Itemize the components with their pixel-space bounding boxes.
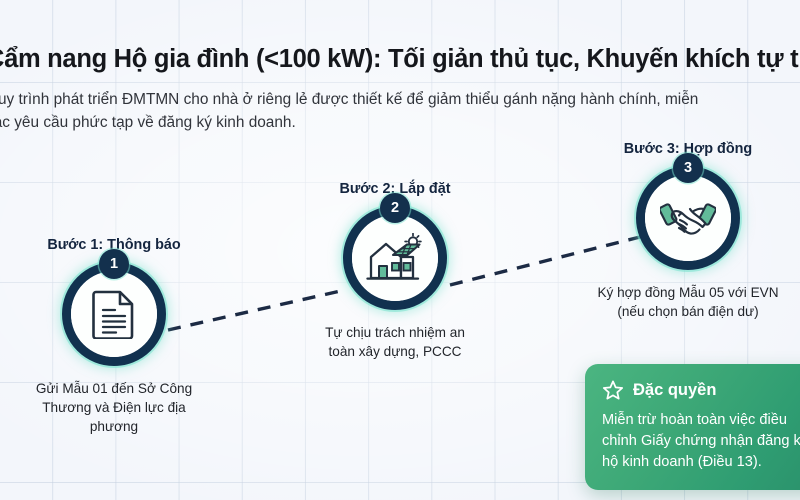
privilege-header: Đặc quyền	[602, 379, 800, 401]
step-3-caption-line-1: Ký hợp đồng Mẫu 05 với EVN	[583, 284, 793, 303]
star-icon	[602, 379, 624, 401]
privilege-title: Đặc quyền	[633, 381, 716, 400]
step-2-caption-line-2: toàn xây dựng, PCCC	[290, 343, 500, 362]
privilege-body-line-1: Miễn trừ hoàn toàn việc điều	[602, 410, 800, 431]
infographic-canvas: Cẩm nang Hộ gia đình (<100 kW): Tối giản…	[0, 0, 800, 500]
step-3[interactable]: Bước 3: Hợp đồng	[583, 141, 793, 322]
solar-house-icon	[366, 233, 424, 283]
step-3-caption: Ký hợp đồng Mẫu 05 với EVN (nếu chọn bán…	[583, 284, 793, 322]
privilege-body: Miễn trừ hoàn toàn việc điều chỉnh Giấy …	[602, 410, 800, 473]
handshake-icon	[660, 196, 716, 240]
subtitle-line-1: Quy trình phát triển ĐMTMN cho nhà ở riê…	[0, 91, 698, 108]
step-3-number-badge: 3	[673, 153, 703, 183]
page-title: Cẩm nang Hộ gia đình (<100 kW): Tối giản…	[0, 44, 800, 75]
step-2-ring[interactable]: 2	[343, 206, 447, 310]
step-3-caption-line-2: (nếu chọn bán điện dư)	[583, 303, 793, 322]
document-icon	[92, 289, 136, 339]
page-subtitle: Quy trình phát triển ĐMTMN cho nhà ở riê…	[0, 88, 800, 135]
privilege-body-line-2: chỉnh Giấy chứng nhận đăng ký	[602, 431, 800, 452]
step-3-icon-area	[645, 175, 731, 261]
step-1-icon-area	[71, 271, 157, 357]
step-1-number-badge: 1	[99, 249, 129, 279]
step-2[interactable]: Bước 2: Lắp đặt	[290, 181, 500, 362]
step-1-caption-line-3: phương	[9, 418, 219, 437]
step-2-icon-area	[352, 215, 438, 301]
step-1-caption-line-1: Gửi Mẫu 01 đến Sở Công	[9, 380, 219, 399]
privilege-card[interactable]: Đặc quyền Miễn trừ hoàn toàn việc điều c…	[585, 364, 800, 490]
privilege-body-line-3: hộ kinh doanh (Điều 13).	[602, 452, 800, 473]
header: Cẩm nang Hộ gia đình (<100 kW): Tối giản…	[0, 44, 800, 134]
step-1-ring[interactable]: 1	[62, 262, 166, 366]
step-2-caption-line-1: Tự chịu trách nhiệm an	[290, 324, 500, 343]
step-2-caption: Tự chịu trách nhiệm an toàn xây dựng, PC…	[290, 324, 500, 362]
step-1-caption-line-2: Thương và Điện lực địa	[9, 399, 219, 418]
step-3-ring[interactable]: 3	[636, 166, 740, 270]
step-1-caption: Gửi Mẫu 01 đến Sở Công Thương và Điện lự…	[9, 380, 219, 436]
subtitle-line-2: các yêu cầu phức tạp về đăng ký kinh doa…	[0, 111, 800, 134]
step-2-number-badge: 2	[380, 193, 410, 223]
step-1[interactable]: Bước 1: Thông báo 1 Gửi Mẫu 01 đến Sở Cô…	[9, 237, 219, 436]
